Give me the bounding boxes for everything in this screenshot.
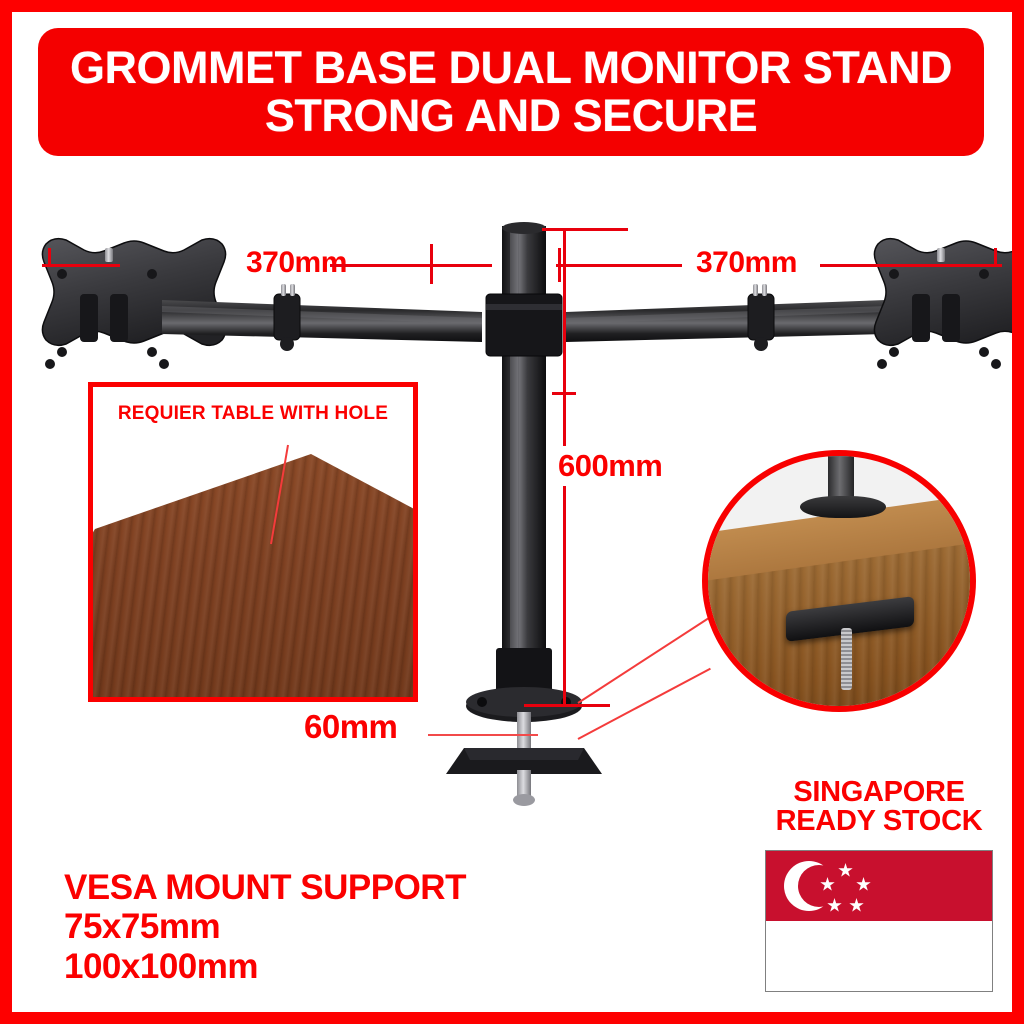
right-vesa-plate bbox=[874, 239, 1024, 369]
singapore-ready-stock-block: SINGAPORE READY STOCK bbox=[754, 778, 1004, 992]
pole-top-tick bbox=[542, 228, 628, 231]
pole-height-dimension: 600mm bbox=[552, 446, 668, 486]
inset-table-with-hole: REQUIER TABLE WITH HOLE bbox=[88, 382, 418, 702]
singapore-flag bbox=[765, 850, 993, 992]
right-arm-tick bbox=[558, 248, 561, 282]
vesa-size-75: 75x75mm bbox=[64, 907, 466, 947]
right-arm-dim-line-outer bbox=[820, 264, 1002, 267]
vesa-size-100: 100x100mm bbox=[64, 947, 466, 987]
left-arm-dim-line-inner bbox=[330, 264, 492, 267]
ready-stock-label: READY STOCK bbox=[754, 807, 1004, 836]
right-arm-end-tick bbox=[994, 248, 997, 266]
singapore-label: SINGAPORE bbox=[754, 778, 1004, 807]
center-pole bbox=[486, 222, 562, 700]
left-arm-dim-line-outer bbox=[42, 264, 120, 267]
image-canvas: GROMMET BASE DUAL MONITOR STAND STRONG A… bbox=[12, 12, 1012, 1012]
pole-mid-tick bbox=[552, 392, 576, 395]
base-width-leader bbox=[428, 734, 538, 736]
right-arm-dimension: 370mm bbox=[696, 246, 797, 280]
vesa-heading: VESA MOUNT SUPPORT bbox=[64, 868, 466, 907]
vesa-support-block: VESA MOUNT SUPPORT 75x75mm 100x100mm bbox=[64, 868, 466, 988]
base-width-dimension: 60mm bbox=[304, 708, 397, 746]
left-arm-dimension: 370mm bbox=[246, 246, 347, 280]
product-image-card: GROMMET BASE DUAL MONITOR STAND STRONG A… bbox=[0, 0, 1024, 1024]
left-arm-tick bbox=[430, 244, 433, 284]
inset-under-desk-mount bbox=[702, 450, 976, 712]
right-arm-dim-line-inner bbox=[556, 264, 682, 267]
mount-flange bbox=[800, 496, 886, 518]
inset-table-caption: REQUIER TABLE WITH HOLE bbox=[93, 403, 413, 425]
clamp-screw bbox=[841, 628, 852, 690]
right-arm bbox=[566, 284, 886, 351]
left-arm-end-tick bbox=[48, 248, 51, 266]
pole-bottom-tick bbox=[524, 704, 610, 707]
desk-surface bbox=[88, 445, 418, 702]
